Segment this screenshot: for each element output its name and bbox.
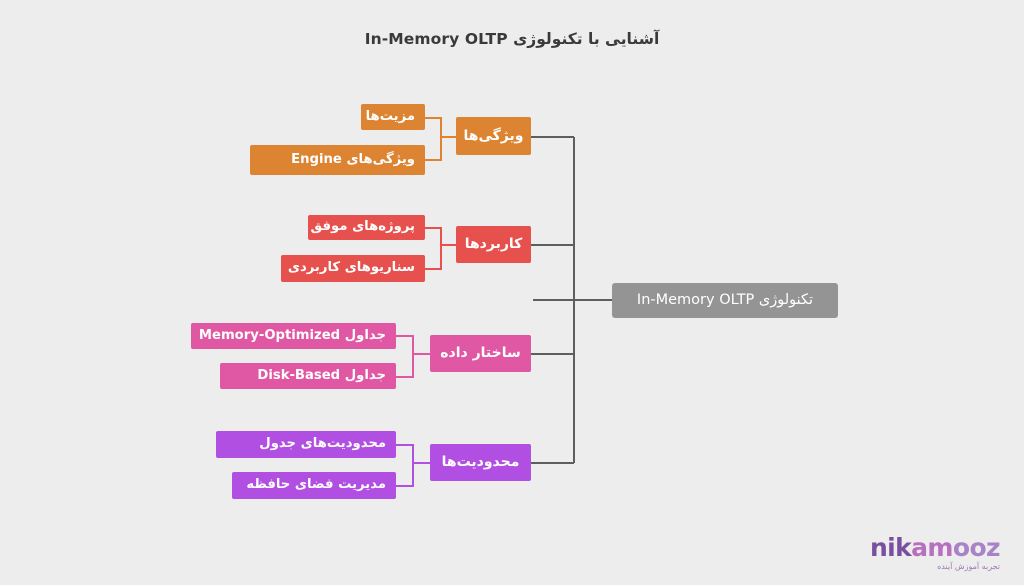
connector-arm-limitations <box>531 462 574 464</box>
leaf-node-limitations-0[interactable]: محدودیت‌های جدول <box>216 431 396 458</box>
brand-logo-tagline: تجربه آموزش آینده <box>870 563 1000 571</box>
bracket-limitations-vertical <box>412 444 414 487</box>
leaf-node-limitations-1-label: مدیریت فضای حافظه <box>246 478 386 491</box>
page-title: آشنایی با تکنولوژی In-Memory OLTP <box>0 30 1024 48</box>
bracket-features-top <box>425 117 442 119</box>
bracket-datastructure-vertical <box>412 335 414 378</box>
bracket-features-bottom <box>425 159 442 161</box>
root-node[interactable]: تکنولوژی In-Memory OLTP <box>612 283 838 318</box>
leaf-node-datastructure-0[interactable]: جداول Memory-Optimized <box>191 323 396 349</box>
connector-arm-datastructure <box>531 353 574 355</box>
leaf-node-usecases-0[interactable]: پروژه‌های موفق <box>308 215 425 240</box>
branch-node-limitations[interactable]: محدودیت‌ها <box>430 444 531 481</box>
bracket-usecases-top <box>425 227 442 229</box>
bracket-usecases-vertical <box>440 227 442 270</box>
mindmap-canvas: آشنایی با تکنولوژی In-Memory OLTP تکنولو… <box>0 0 1024 585</box>
bracket-limitations-stub <box>412 462 430 464</box>
brand-logo: nikamooz تجربه آموزش آینده <box>870 535 1000 571</box>
leaf-node-datastructure-0-label: جداول Memory-Optimized <box>199 329 386 342</box>
bracket-features-vertical <box>440 117 442 161</box>
bracket-limitations-bottom <box>396 485 414 487</box>
leaf-node-features-1[interactable]: ویژگی‌های Engine <box>250 145 425 175</box>
leaf-node-limitations-0-label: محدودیت‌های جدول <box>259 437 386 450</box>
bracket-datastructure-bottom <box>396 376 414 378</box>
leaf-node-usecases-1[interactable]: سناریوهای کاربردی <box>281 255 425 282</box>
connector-spine <box>573 137 575 463</box>
branch-node-limitations-label: محدودیت‌ها <box>442 455 520 469</box>
bracket-features-stub <box>440 136 456 138</box>
brand-logo-part2: am <box>911 533 953 562</box>
branch-node-features[interactable]: ویژگی‌ها <box>456 117 531 155</box>
bracket-usecases-stub <box>440 244 456 246</box>
branch-node-datastructure-label: ساختار داده <box>440 346 520 360</box>
branch-node-features-label: ویژگی‌ها <box>464 129 524 143</box>
bracket-usecases-bottom <box>425 268 442 270</box>
bracket-limitations-top <box>396 444 414 446</box>
leaf-node-usecases-1-label: سناریوهای کاربردی <box>288 261 415 274</box>
connector-arm-usecases <box>531 244 574 246</box>
leaf-node-features-0-label: مزیت‌ها <box>366 110 415 123</box>
leaf-node-usecases-0-label: پروژه‌های موفق <box>311 220 415 233</box>
brand-logo-part1: nik <box>870 533 911 562</box>
leaf-node-features-1-label: ویژگی‌های Engine <box>291 153 415 166</box>
root-node-label: تکنولوژی In-Memory OLTP <box>637 293 813 308</box>
branch-node-datastructure[interactable]: ساختار داده <box>430 335 531 372</box>
leaf-node-limitations-1[interactable]: مدیریت فضای حافظه <box>232 472 396 499</box>
bracket-datastructure-top <box>396 335 414 337</box>
brand-logo-wordmark: nikamooz <box>870 535 1000 560</box>
brand-logo-part3: ooz <box>953 533 1000 562</box>
branch-node-usecases-label: کاربردها <box>465 237 523 251</box>
leaf-node-datastructure-1[interactable]: جداول Disk-Based <box>220 363 396 389</box>
branch-node-usecases[interactable]: کاربردها <box>456 226 531 263</box>
leaf-node-features-0[interactable]: مزیت‌ها <box>361 104 425 130</box>
bracket-datastructure-stub <box>412 353 430 355</box>
connector-arm-features <box>531 136 574 138</box>
leaf-node-datastructure-1-label: جداول Disk-Based <box>257 369 386 382</box>
